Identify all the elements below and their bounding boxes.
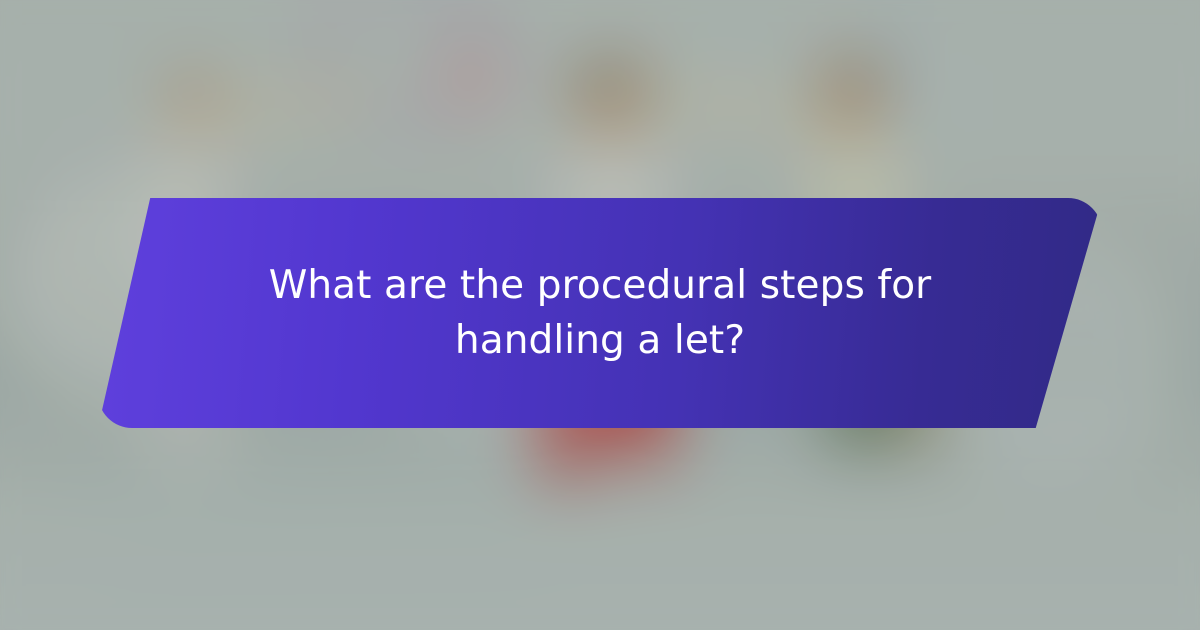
question-banner: What are the procedural steps for handli… — [98, 198, 1102, 428]
banner-text-container: What are the procedural steps for handli… — [98, 198, 1102, 428]
question-card: What are the procedural steps for handli… — [0, 0, 1200, 630]
question-text: What are the procedural steps for handli… — [218, 258, 982, 369]
